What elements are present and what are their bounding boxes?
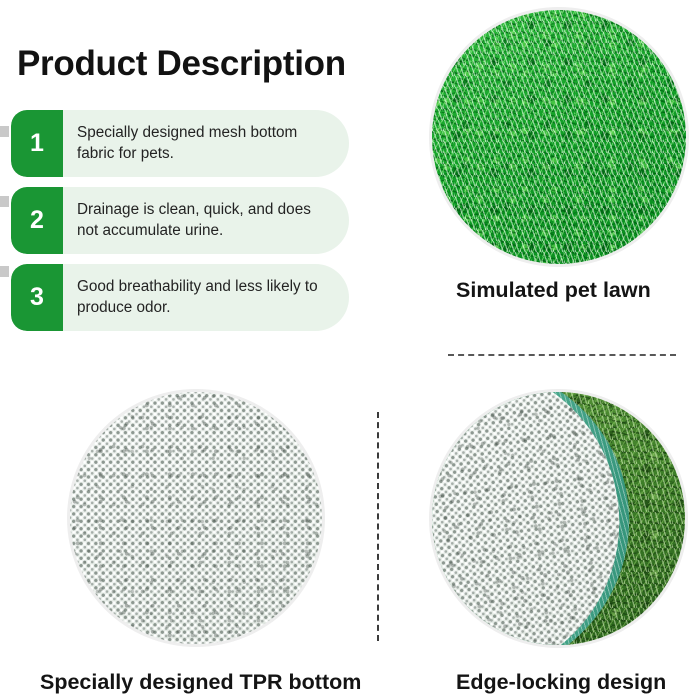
grass-texture [432,10,686,264]
divider-vertical [377,412,379,641]
feature-number-badge: 3 [11,264,63,331]
tpr-speckle-overlay [432,392,637,645]
photo-simulated-pet-lawn [432,10,686,264]
photo-tpr-bottom [70,392,322,644]
caption-edge-locking-design: Edge-locking design [456,672,666,694]
caption-simulated-pet-lawn: Simulated pet lawn [456,280,651,302]
list-item: 1 Specially designed mesh bottom fabric … [11,110,349,177]
list-item: 2 Drainage is clean, quick, and does not… [11,187,349,254]
feature-text: Drainage is clean, quick, and does not a… [63,187,349,254]
caption-tpr-bottom: Specially designed TPR bottom [40,672,361,694]
feature-text: Good breathability and less likely to pr… [63,264,349,331]
edge-artifact [0,196,9,207]
edge-artifact [0,266,9,277]
photo-edge-locking-design [432,392,685,645]
tpr-backing-panel [432,392,637,645]
list-item: 3 Good breathability and less likely to … [11,264,349,331]
feature-number-badge: 1 [11,110,63,177]
feature-list: 1 Specially designed mesh bottom fabric … [11,110,349,341]
feature-number-badge: 2 [11,187,63,254]
feature-text: Specially designed mesh bottom fabric fo… [63,110,349,177]
page-title: Product Description [17,46,346,81]
divider-horizontal [448,354,676,356]
tpr-speckle-overlay [70,392,322,644]
edge-artifact [0,126,9,137]
